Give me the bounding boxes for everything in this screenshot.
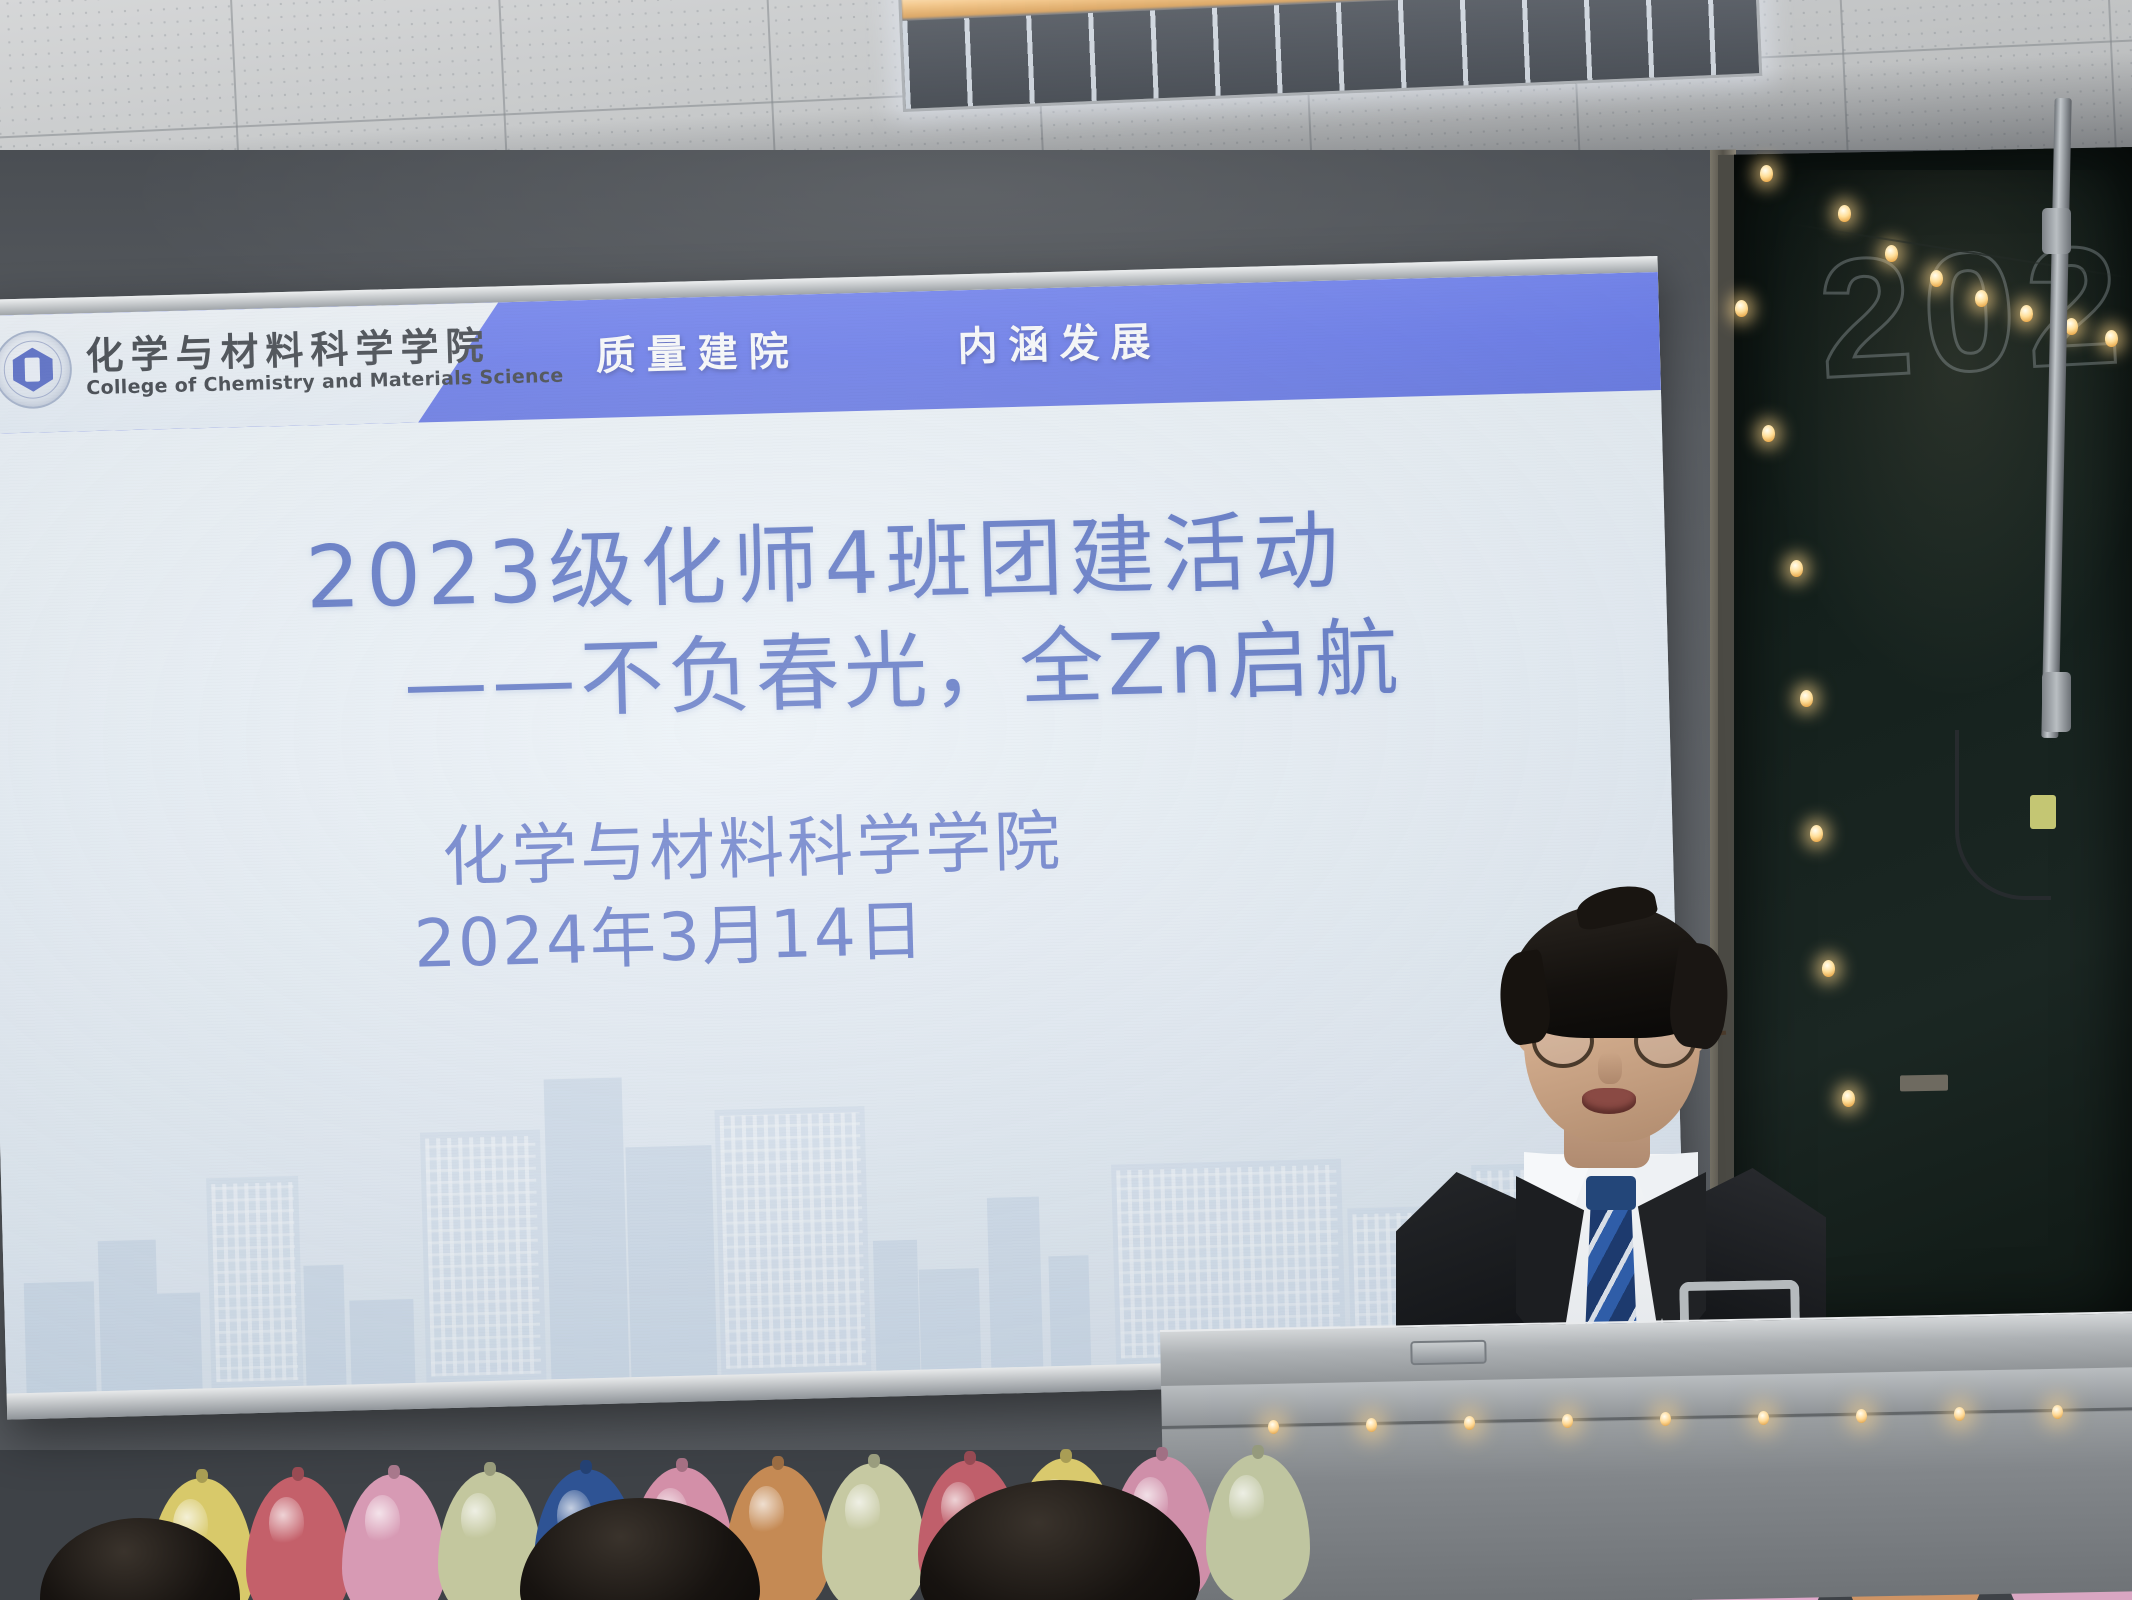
mic-stand-joint bbox=[2042, 208, 2071, 254]
balloon-highlight bbox=[845, 1484, 880, 1536]
balloon-highlight bbox=[461, 1493, 496, 1545]
skyline-building bbox=[714, 1106, 871, 1375]
podium-light-bulb bbox=[1954, 1407, 1965, 1421]
podium-light-bulb bbox=[1268, 1420, 1279, 1434]
fairy-light-bulb bbox=[1885, 245, 1898, 262]
skyline-building bbox=[1048, 1255, 1091, 1366]
college-seal-emblem-icon bbox=[0, 330, 73, 410]
skyline-building bbox=[987, 1197, 1043, 1368]
cable-tag bbox=[2030, 795, 2056, 829]
chalk-tray bbox=[1900, 1075, 1948, 1092]
fairy-light-bulb bbox=[1800, 690, 1813, 707]
college-logo: 化学与材料科学学院 College of Chemistry and Mater… bbox=[0, 317, 564, 410]
fairy-light-bulb bbox=[1735, 300, 1748, 317]
skyline-building bbox=[625, 1145, 717, 1377]
podium-body bbox=[1162, 1411, 2132, 1600]
skyline-building bbox=[544, 1077, 630, 1379]
fairy-light-bulb bbox=[1762, 425, 1775, 442]
fairy-light-bulb bbox=[1838, 205, 1851, 222]
skyline-building bbox=[349, 1299, 415, 1385]
fairy-light-bulb bbox=[2020, 305, 2033, 322]
fairy-light-bulb bbox=[1810, 825, 1823, 842]
sage-balloon bbox=[822, 1463, 926, 1600]
building-windows bbox=[211, 1182, 298, 1382]
fairy-light-bulb bbox=[1790, 560, 1803, 577]
mouth bbox=[1582, 1088, 1636, 1114]
logo-text-block: 化学与材料科学学院 College of Chemistry and Mater… bbox=[85, 325, 564, 400]
building-windows bbox=[720, 1112, 867, 1369]
balloon-highlight bbox=[1229, 1475, 1264, 1527]
slogan-right: 内涵发展 bbox=[957, 309, 1162, 372]
podium-light-bulb bbox=[2052, 1405, 2063, 1419]
tie-knot bbox=[1586, 1176, 1636, 1210]
fairy-light-bulb bbox=[1975, 290, 1988, 307]
pink-balloon bbox=[342, 1474, 446, 1600]
balloon-highlight bbox=[269, 1497, 304, 1549]
skyline-building bbox=[303, 1265, 346, 1386]
balloon-highlight bbox=[749, 1486, 784, 1538]
emblem-hexagon bbox=[12, 347, 53, 392]
fairy-light-bulb bbox=[1760, 165, 1773, 182]
fairy-light-bulb bbox=[1930, 270, 1943, 287]
skyline-building bbox=[919, 1268, 982, 1370]
balloon-highlight bbox=[365, 1495, 400, 1547]
fairy-light-bulb bbox=[2105, 330, 2118, 347]
mic-stand-joint-lower bbox=[2042, 672, 2071, 732]
podium-light-bulb bbox=[1758, 1411, 1769, 1425]
podium-light-bulb bbox=[1856, 1409, 1867, 1423]
skyline-building bbox=[206, 1176, 303, 1388]
building-windows bbox=[425, 1136, 541, 1377]
chalk-writing: 202 bbox=[1814, 207, 2132, 454]
skyline-building bbox=[154, 1293, 202, 1390]
red-balloon bbox=[246, 1476, 350, 1600]
nose bbox=[1598, 1052, 1622, 1084]
podium-latch[interactable] bbox=[1410, 1340, 1486, 1365]
skyline-building bbox=[24, 1281, 97, 1393]
slogan-left: 质量建院 bbox=[595, 319, 800, 382]
skyline-building bbox=[873, 1240, 920, 1371]
fairy-light-bulb bbox=[1842, 1090, 1855, 1107]
podium-light-bulb bbox=[1366, 1418, 1377, 1432]
presentation-scene: 202 化学与材料科学学院 College of Chemistry and M… bbox=[0, 0, 2132, 1600]
skyline-building bbox=[420, 1130, 547, 1383]
skyline-building bbox=[98, 1240, 160, 1391]
